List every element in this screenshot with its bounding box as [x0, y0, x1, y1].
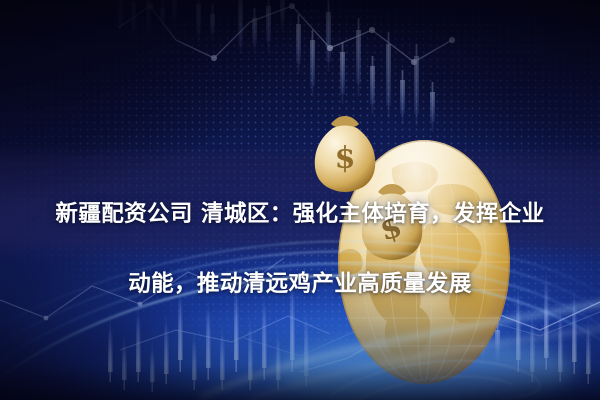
headline-line-2: 动能，推动清远鸡产业高质量发展: [8, 267, 592, 302]
headline-line-1: 新疆配资公司 清城区：强化主体培育，发挥企业: [8, 197, 592, 232]
banner-image: $ $: [0, 0, 600, 400]
banner-headline: 新疆配资公司 清城区：强化主体培育，发挥企业 动能，推动清远鸡产业高质量发展: [0, 162, 600, 337]
